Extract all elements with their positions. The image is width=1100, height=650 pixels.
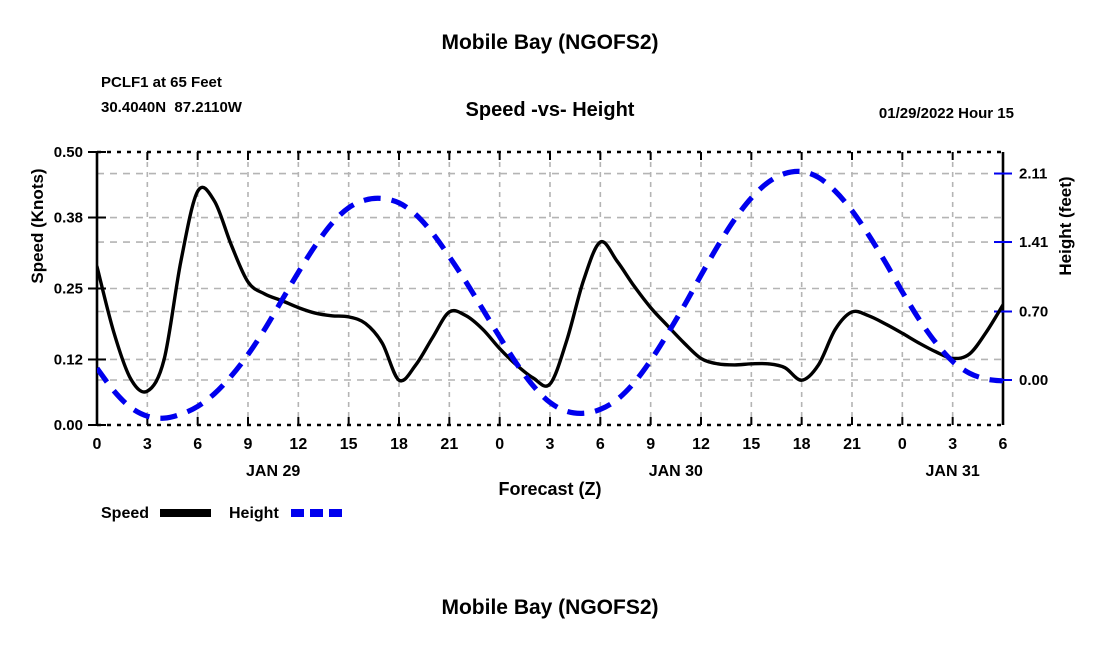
y-axis-right-tick-label: 1.41 (1019, 234, 1048, 251)
legend-label-speed[interactable]: Speed (101, 505, 149, 522)
x-axis-tick-label: 9 (244, 436, 253, 453)
x-axis-tick-label: 15 (340, 436, 358, 453)
x-axis-tick-label: 0 (93, 436, 102, 453)
x-axis-tick-label: 12 (289, 436, 307, 453)
x-axis-tick-label: 18 (793, 436, 811, 453)
y-axis-left-tick-label: 0.50 (54, 144, 83, 161)
chart-page: Mobile Bay (NGOFS2) PCLF1 at 65 Feet 30.… (0, 0, 1100, 650)
y-axis-left-tick-label: 0.25 (54, 281, 83, 298)
x-axis-day-label: JAN 31 (926, 463, 980, 480)
x-axis-tick-label: 3 (546, 436, 555, 453)
x-axis-tick-label: 21 (843, 436, 861, 453)
x-axis-tick-label: 12 (692, 436, 710, 453)
x-axis-tick-label: 6 (999, 436, 1008, 453)
x-axis-tick-label: 18 (390, 436, 408, 453)
chart-legend[interactable]: SpeedHeight (101, 505, 344, 522)
chart-plot-area: 0.500.380.250.120.002.111.410.700.000369… (0, 0, 1100, 650)
x-axis-tick-label: 6 (596, 436, 605, 453)
y-axis-right-tick-label: 0.00 (1019, 372, 1048, 389)
x-axis-tick-label: 6 (193, 436, 202, 453)
x-axis-tick-label: 0 (898, 436, 907, 453)
y-axis-left-tick-label: 0.00 (54, 417, 83, 434)
x-axis-tick-label: 3 (143, 436, 152, 453)
x-axis-tick-label: 3 (948, 436, 957, 453)
legend-label-height[interactable]: Height (229, 505, 279, 522)
y-axis-left-tick-label: 0.12 (54, 351, 83, 368)
x-axis-tick-label: 15 (742, 436, 760, 453)
x-axis-day-label: JAN 30 (649, 463, 703, 480)
y-axis-right-tick-label: 2.11 (1019, 166, 1047, 183)
x-axis-tick-label: 0 (495, 436, 504, 453)
footer-title: Mobile Bay (NGOFS2) (0, 596, 1100, 620)
x-axis-tick-label: 9 (646, 436, 655, 453)
y-axis-right-tick-label: 0.70 (1019, 303, 1048, 320)
x-axis-day-label: JAN 29 (246, 463, 300, 480)
y-axis-left-tick-label: 0.38 (54, 210, 83, 227)
x-axis-tick-label: 21 (440, 436, 458, 453)
